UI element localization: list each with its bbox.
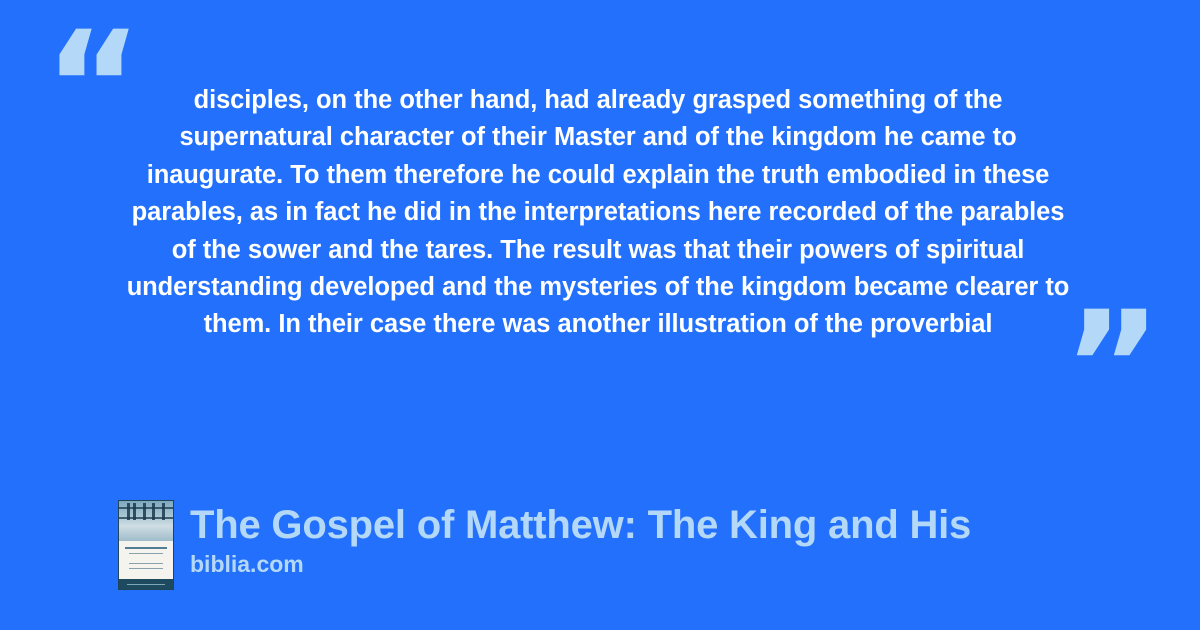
book-title: The Gospel of Matthew: The King and His [190, 502, 971, 548]
cover-beam [119, 517, 173, 519]
quote-block: disciples, on the other hand, had alread… [118, 82, 1078, 344]
cover-beam [119, 507, 173, 509]
site-name: biblia.com [190, 550, 971, 578]
cover-title-panel [119, 541, 173, 579]
quote-text: disciples, on the other hand, had alread… [118, 82, 1078, 344]
cover-title-line [125, 547, 166, 549]
cover-subtitle-line [129, 568, 164, 570]
attribution-footer: The Gospel of Matthew: The King and His … [118, 500, 971, 590]
quote-card: “ ” disciples, on the other hand, had al… [0, 0, 1200, 630]
cover-photo [119, 501, 173, 541]
attribution-text: The Gospel of Matthew: The King and His … [190, 500, 971, 578]
cover-author-line [127, 584, 166, 586]
cover-subtitle-line [129, 553, 164, 555]
book-cover-thumbnail [118, 500, 174, 590]
cover-subtitle-line [129, 563, 164, 565]
